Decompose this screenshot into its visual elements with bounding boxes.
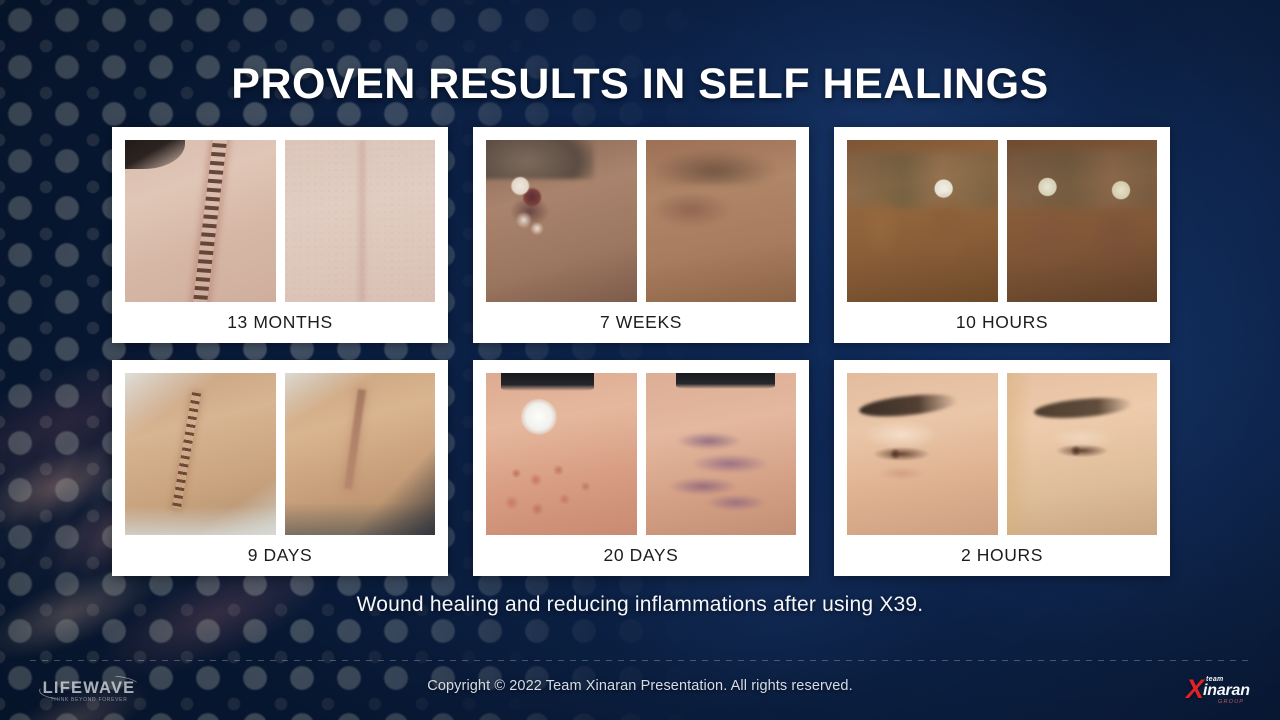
presentation-slide: PROVEN RESULTS IN SELF HEALINGS 13 MONTH… xyxy=(0,0,1280,720)
before-photo xyxy=(486,140,637,302)
xinaran-x-mark-icon: X xyxy=(1186,676,1204,703)
lifewave-logo: LIFEWAVE Think Beyond Forever xyxy=(33,674,145,708)
result-card-caption: 7 WEEKS xyxy=(486,302,796,343)
result-card: 20 DAYS xyxy=(473,360,809,576)
before-after-photo-pair xyxy=(847,373,1157,535)
result-card: 2 HOURS xyxy=(834,360,1170,576)
lifewave-wordmark: LIFEWAVE xyxy=(33,679,145,698)
result-card-caption: 2 HOURS xyxy=(847,535,1157,576)
before-after-photo-pair xyxy=(125,140,435,302)
result-card-caption: 10 HOURS xyxy=(847,302,1157,343)
footer-divider xyxy=(30,660,1250,661)
result-card: 13 MONTHS xyxy=(112,127,448,343)
after-photo xyxy=(646,140,797,302)
result-card-caption: 9 DAYS xyxy=(125,535,435,576)
before-photo xyxy=(486,373,637,535)
before-photo xyxy=(847,373,998,535)
after-photo xyxy=(285,373,436,535)
footer-copyright: Copyright © 2022 Team Xinaran Presentati… xyxy=(0,678,1280,694)
result-card: 10 HOURS xyxy=(834,127,1170,343)
before-after-photo-pair xyxy=(847,140,1157,302)
result-card-caption: 13 MONTHS xyxy=(125,302,435,343)
before-after-photo-pair xyxy=(486,373,796,535)
before-photo xyxy=(125,373,276,535)
before-photo xyxy=(125,140,276,302)
lifewave-tagline: Think Beyond Forever xyxy=(33,697,145,703)
slide-subtitle: Wound healing and reducing inflammations… xyxy=(0,593,1280,617)
after-photo xyxy=(646,373,797,535)
results-card-grid: 13 MONTHS 7 WEEKS 10 HOURS 9 DAYS xyxy=(112,127,1170,577)
result-card-caption: 20 DAYS xyxy=(486,535,796,576)
slide-title: PROVEN RESULTS IN SELF HEALINGS xyxy=(0,60,1280,109)
after-photo xyxy=(1007,140,1158,302)
before-after-photo-pair xyxy=(125,373,435,535)
team-xinaran-logo: X team inaran GROUP xyxy=(1186,672,1258,710)
before-after-photo-pair xyxy=(486,140,796,302)
after-photo xyxy=(285,140,436,302)
after-photo xyxy=(1007,373,1158,535)
result-card: 9 DAYS xyxy=(112,360,448,576)
result-card: 7 WEEKS xyxy=(473,127,809,343)
xinaran-sublabel: GROUP xyxy=(1218,699,1244,705)
before-photo xyxy=(847,140,998,302)
xinaran-wordmark: inaran xyxy=(1203,683,1250,699)
